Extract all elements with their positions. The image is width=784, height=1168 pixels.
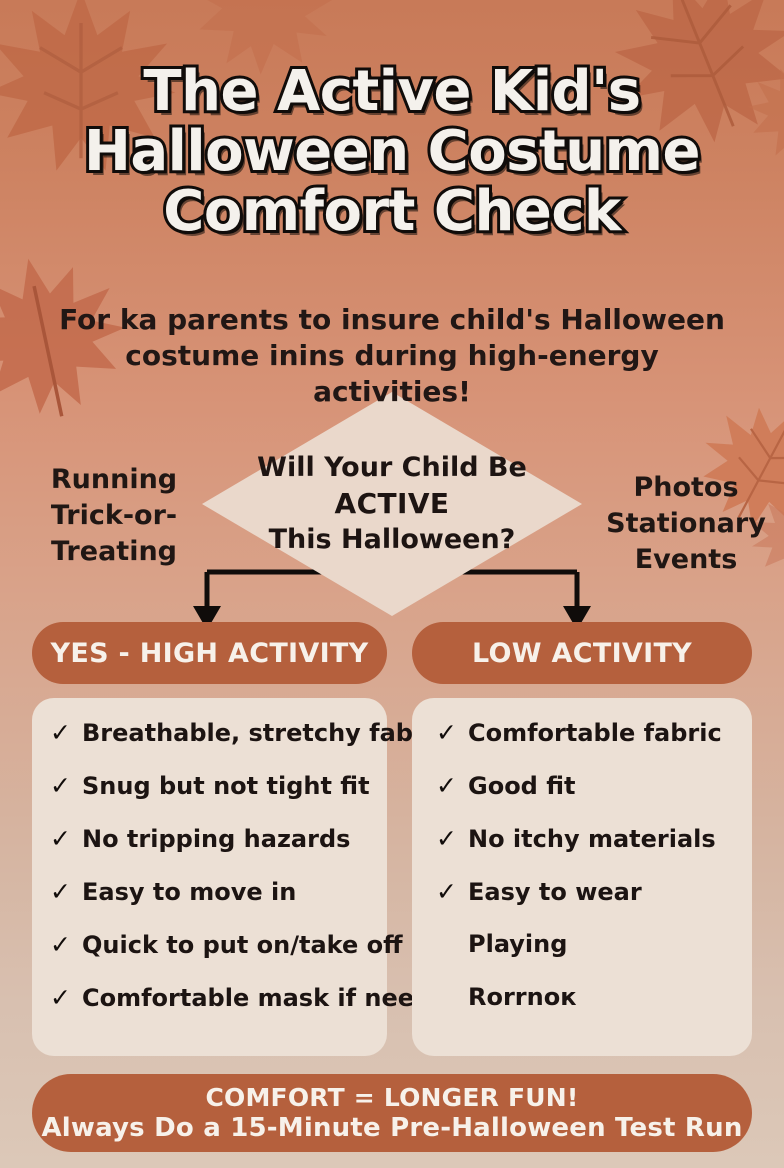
diamond-line-1: Will Your Child Be [257, 451, 527, 485]
list-item-label: Rorrnoк [468, 983, 577, 1011]
list-item: ✓ Quick to put on/take off [32, 930, 387, 983]
list-item-label: Comfortable fabric [468, 719, 722, 747]
check-icon: ✓ [50, 718, 72, 747]
list-item-label: Good fit [468, 772, 575, 800]
list-item: ✓ No tripping hazards [32, 824, 387, 877]
title-line-3: Comfort Check [0, 182, 784, 242]
list-item-label: Easy to move in [82, 878, 296, 906]
branch-right-line-1: Photos [600, 470, 772, 506]
list-item: ✓ Easy to move in [32, 877, 387, 930]
branch-label-left: Running Trick-or- Treating [16, 462, 212, 570]
check-icon: ✓ [436, 824, 458, 853]
list-item: ✓ Comfortable mask if needed [32, 983, 387, 1036]
subtitle-line-2: costume inins during high-energy activit… [52, 338, 732, 410]
list-item-label: Easy to wear [468, 878, 642, 906]
list-item: ✓ Easy to wear [412, 877, 752, 930]
diamond-line-3: This Halloween? [269, 523, 516, 557]
list-item-label: No itchy materials [468, 825, 716, 853]
list-item: ✓ Good fit [412, 771, 752, 824]
list-item: ✓ Breathable, stretchy fabric [32, 718, 387, 771]
branch-right-line-2: Stationary [600, 506, 772, 542]
banner-low-activity: LOW ACTIVITY [412, 622, 752, 684]
list-item-label: Breathable, stretchy fabric [82, 719, 447, 747]
check-icon: ✓ [436, 718, 458, 747]
list-item-label: Comfortable mask if needed [82, 984, 465, 1012]
list-item: ✓ Comfortable fabric [412, 718, 752, 771]
list-item: Rorrnoк [412, 983, 752, 1036]
diamond-line-2: ACTIVE [335, 487, 450, 521]
footer-line-1: COMFORT = LONGER FUN! [205, 1083, 578, 1112]
branch-left-line-2: Trick-or- [16, 498, 212, 534]
list-item-label: Quick to put on/take off [82, 931, 403, 959]
diamond-label: Will Your Child Be ACTIVE This Halloween… [202, 392, 582, 616]
branch-label-right: Photos Stationary Events [600, 470, 772, 578]
checklist-card-high-activity: ✓ Breathable, stretchy fabric ✓ Snug but… [32, 698, 387, 1056]
check-icon: ✓ [50, 930, 72, 959]
list-item-label: Snug but not tight fit [82, 772, 370, 800]
footer-banner: COMFORT = LONGER FUN! Always Do a 15-Min… [32, 1074, 752, 1152]
checklist-card-low-activity: ✓ Comfortable fabric ✓ Good fit ✓ No itc… [412, 698, 752, 1056]
check-icon: ✓ [50, 771, 72, 800]
list-item-label: No tripping hazards [82, 825, 350, 853]
check-icon: ✓ [50, 983, 72, 1012]
branch-left-line-1: Running [16, 462, 212, 498]
banner-low-activity-label: LOW ACTIVITY [472, 638, 692, 669]
list-item: ✓ Snug but not tight fit [32, 771, 387, 824]
check-icon: ✓ [436, 771, 458, 800]
check-icon: ✓ [436, 877, 458, 906]
banner-high-activity: YES - HIGH ACTIVITY [32, 622, 387, 684]
footer-line-2: Always Do a 15-Minute Pre-Halloween Test… [41, 1113, 742, 1143]
list-item-label: Playing [468, 930, 567, 958]
branch-right-line-3: Events [600, 542, 772, 578]
branch-left-line-3: Treating [16, 534, 212, 570]
check-icon: ✓ [50, 877, 72, 906]
banner-high-activity-label: YES - HIGH ACTIVITY [50, 638, 368, 669]
list-item: ✓ No itchy materials [412, 824, 752, 877]
list-item: Playing [412, 930, 752, 983]
title-line-1: The Active Kid's [0, 62, 784, 122]
page-subtitle: For ka parents to insure child's Hallowe… [52, 302, 732, 410]
page-title: The Active Kid's Halloween Costume Comfo… [0, 62, 784, 242]
check-icon: ✓ [50, 824, 72, 853]
infographic-poster: The Active Kid's Halloween Costume Comfo… [0, 0, 784, 1168]
decision-diamond: Will Your Child Be ACTIVE This Halloween… [202, 392, 582, 616]
title-line-2: Halloween Costume [0, 122, 784, 182]
subtitle-line-1: For ka parents to insure child's Hallowe… [52, 302, 732, 338]
